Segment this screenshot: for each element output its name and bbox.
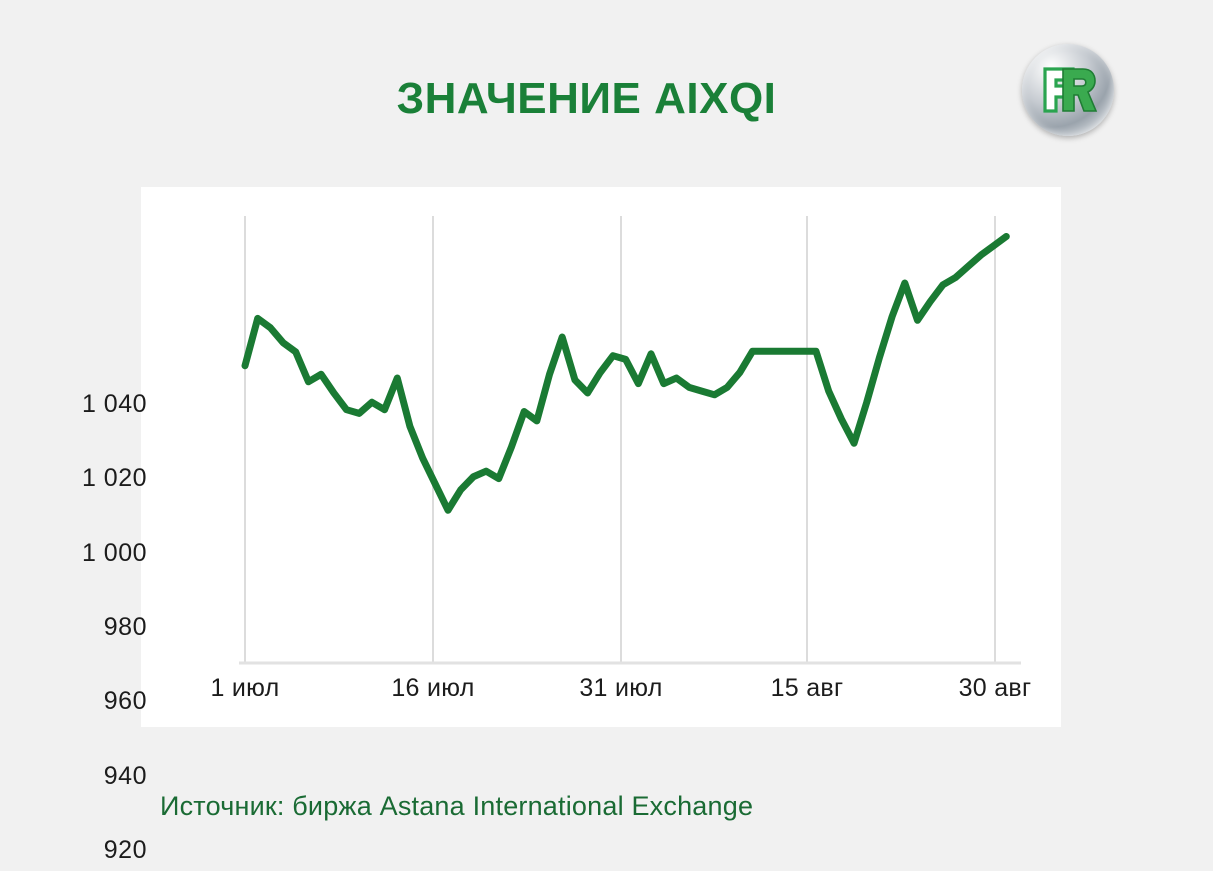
x-tick-label: 15 авг [717, 674, 897, 703]
y-tick-label: 960 [61, 687, 147, 716]
y-tick-label: 920 [61, 836, 147, 865]
fr-monogram-icon [1033, 55, 1103, 125]
data-line-aixqi [245, 236, 1006, 510]
fr-logo-badge [1022, 44, 1114, 136]
x-tick-label: 16 июл [343, 674, 523, 703]
chart-panel: 1 040 1 020 1 000 980 960 940 920 1 июл … [141, 187, 1061, 727]
y-tick-label: 1 040 [61, 390, 147, 419]
source-note: Источник: биржа Astana International Exc… [160, 791, 753, 822]
y-tick-label: 980 [61, 613, 147, 642]
y-tick-label: 1 020 [61, 464, 147, 493]
x-tick-label: 1 июл [155, 674, 335, 703]
poster-root: ЗНАЧЕНИЕ AIXQI 1 040 1 020 1 000 980 960… [0, 0, 1213, 871]
gridlines [245, 216, 995, 663]
y-tick-label: 940 [61, 762, 147, 791]
x-tick-label: 31 июл [531, 674, 711, 703]
header: ЗНАЧЕНИЕ AIXQI [0, 0, 1213, 180]
x-tick-label: 30 авг [905, 674, 1085, 703]
line-chart-plot [141, 187, 1061, 727]
y-tick-label: 1 000 [61, 539, 147, 568]
page-title: ЗНАЧЕНИЕ AIXQI [0, 75, 1173, 123]
